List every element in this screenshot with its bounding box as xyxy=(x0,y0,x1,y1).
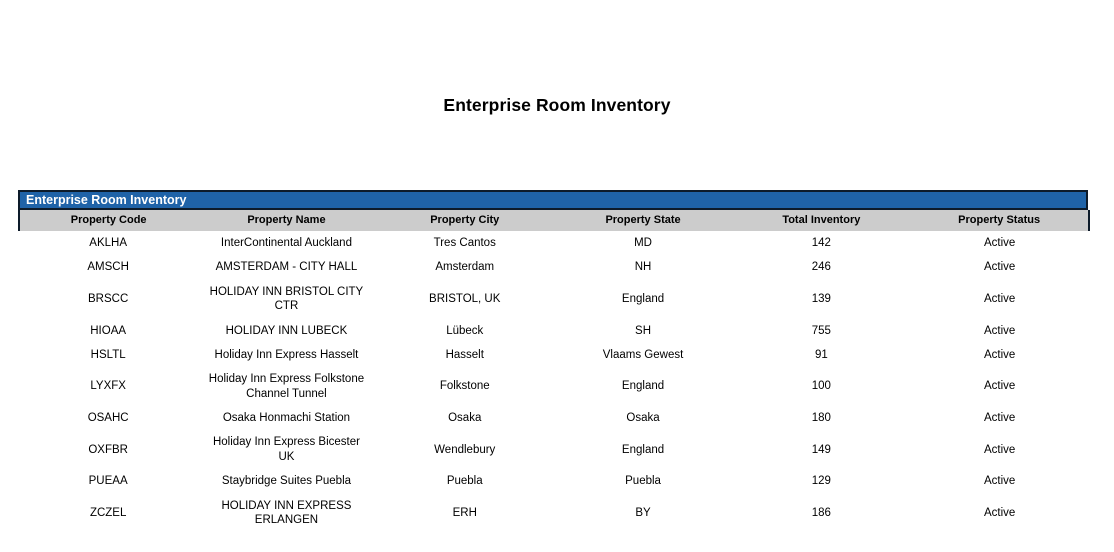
inventory-report: Enterprise Room Inventory Property Code … xyxy=(18,190,1088,532)
cell-property-code: BRSCC xyxy=(19,280,197,319)
cell-property-status: Active xyxy=(910,280,1088,319)
cell-property-name: Holiday Inn Express Bicester UK xyxy=(197,430,375,469)
cell-property-status: Active xyxy=(910,255,1088,279)
cell-property-state: England xyxy=(554,367,732,406)
cell-property-city: Lübeck xyxy=(376,319,554,343)
cell-property-city: Osaka xyxy=(376,406,554,430)
cell-property-name: InterContinental Auckland xyxy=(197,231,375,255)
cell-property-name: AMSTERDAM - CITY HALL xyxy=(197,255,375,279)
inventory-table: Property Code Property Name Property Cit… xyxy=(18,210,1090,532)
cell-property-code: HIOAA xyxy=(19,319,197,343)
cell-total-inventory: 180 xyxy=(732,406,910,430)
column-header-property-name[interactable]: Property Name xyxy=(197,210,375,231)
cell-property-state: SH xyxy=(554,319,732,343)
cell-property-name: Holiday Inn Express Hasselt xyxy=(197,343,375,367)
column-header-property-code[interactable]: Property Code xyxy=(19,210,197,231)
cell-total-inventory: 755 xyxy=(732,319,910,343)
cell-property-name: HOLIDAY INN EXPRESS ERLANGEN xyxy=(197,494,375,533)
cell-property-status: Active xyxy=(910,494,1088,533)
table-row[interactable]: OXFBRHoliday Inn Express Bicester UKWend… xyxy=(19,430,1089,469)
cell-total-inventory: 186 xyxy=(732,494,910,533)
table-row[interactable]: BRSCCHOLIDAY INN BRISTOL CITY CTRBRISTOL… xyxy=(19,280,1089,319)
cell-property-status: Active xyxy=(910,406,1088,430)
cell-property-state: BY xyxy=(554,494,732,533)
cell-property-code: ZCZEL xyxy=(19,494,197,533)
report-banner: Enterprise Room Inventory xyxy=(18,190,1088,210)
cell-property-city: Wendlebury xyxy=(376,430,554,469)
table-row[interactable]: ZCZELHOLIDAY INN EXPRESS ERLANGENERHBY18… xyxy=(19,494,1089,533)
cell-property-state: England xyxy=(554,280,732,319)
cell-property-state: Puebla xyxy=(554,469,732,493)
cell-total-inventory: 100 xyxy=(732,367,910,406)
table-header: Property Code Property Name Property Cit… xyxy=(19,210,1089,231)
cell-total-inventory: 246 xyxy=(732,255,910,279)
cell-property-status: Active xyxy=(910,367,1088,406)
cell-property-state: NH xyxy=(554,255,732,279)
cell-property-code: AMSCH xyxy=(19,255,197,279)
cell-property-status: Active xyxy=(910,469,1088,493)
cell-property-name: HOLIDAY INN BRISTOL CITY CTR xyxy=(197,280,375,319)
table-row[interactable]: OSAHCOsaka Honmachi StationOsakaOsaka180… xyxy=(19,406,1089,430)
cell-property-status: Active xyxy=(910,231,1088,255)
cell-property-status: Active xyxy=(910,430,1088,469)
cell-total-inventory: 142 xyxy=(732,231,910,255)
column-header-property-city[interactable]: Property City xyxy=(376,210,554,231)
cell-property-name: Osaka Honmachi Station xyxy=(197,406,375,430)
cell-property-state: Osaka xyxy=(554,406,732,430)
table-body: AKLHAInterContinental AucklandTres Canto… xyxy=(19,231,1089,532)
cell-property-name: Staybridge Suites Puebla xyxy=(197,469,375,493)
cell-property-code: HSLTL xyxy=(19,343,197,367)
cell-property-city: Puebla xyxy=(376,469,554,493)
table-row[interactable]: HSLTLHoliday Inn Express HasseltHasseltV… xyxy=(19,343,1089,367)
column-header-property-status[interactable]: Property Status xyxy=(910,210,1088,231)
table-row[interactable]: HIOAAHOLIDAY INN LUBECKLübeckSH755Active xyxy=(19,319,1089,343)
cell-property-code: AKLHA xyxy=(19,231,197,255)
table-row[interactable]: PUEAAStaybridge Suites PueblaPueblaPuebl… xyxy=(19,469,1089,493)
table-row[interactable]: LYXFXHoliday Inn Express Folkstone Chann… xyxy=(19,367,1089,406)
cell-property-code: OXFBR xyxy=(19,430,197,469)
cell-property-city: Amsterdam xyxy=(376,255,554,279)
cell-property-city: Hasselt xyxy=(376,343,554,367)
cell-property-city: Folkstone xyxy=(376,367,554,406)
report-banner-label: Enterprise Room Inventory xyxy=(26,194,186,207)
cell-total-inventory: 149 xyxy=(732,430,910,469)
cell-property-code: OSAHC xyxy=(19,406,197,430)
cell-property-status: Active xyxy=(910,343,1088,367)
page-title: Enterprise Room Inventory xyxy=(0,95,1114,116)
cell-property-status: Active xyxy=(910,319,1088,343)
cell-property-state: England xyxy=(554,430,732,469)
cell-property-name: Holiday Inn Express Folkstone Channel Tu… xyxy=(197,367,375,406)
table-header-row: Property Code Property Name Property Cit… xyxy=(19,210,1089,231)
cell-property-state: Vlaams Gewest xyxy=(554,343,732,367)
cell-property-city: BRISTOL, UK xyxy=(376,280,554,319)
column-header-property-state[interactable]: Property State xyxy=(554,210,732,231)
table-row[interactable]: AMSCHAMSTERDAM - CITY HALLAmsterdamNH246… xyxy=(19,255,1089,279)
cell-total-inventory: 139 xyxy=(732,280,910,319)
cell-property-city: ERH xyxy=(376,494,554,533)
cell-property-city: Tres Cantos xyxy=(376,231,554,255)
cell-property-code: PUEAA xyxy=(19,469,197,493)
cell-property-code: LYXFX xyxy=(19,367,197,406)
cell-total-inventory: 91 xyxy=(732,343,910,367)
column-header-total-inventory[interactable]: Total Inventory xyxy=(732,210,910,231)
table-row[interactable]: AKLHAInterContinental AucklandTres Canto… xyxy=(19,231,1089,255)
cell-property-state: MD xyxy=(554,231,732,255)
cell-total-inventory: 129 xyxy=(732,469,910,493)
cell-property-name: HOLIDAY INN LUBECK xyxy=(197,319,375,343)
